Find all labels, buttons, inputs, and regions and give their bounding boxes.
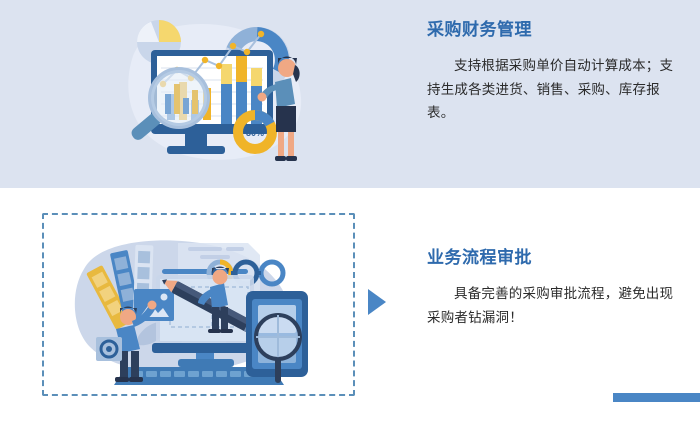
feature-title-approval-workflow: 业务流程审批 <box>427 248 677 268</box>
feature-text-bottom: 业务流程审批 具备完善的采购审批流程，避免出现采购者钻漏洞！ <box>427 248 677 329</box>
feature-body-procurement-finance: 支持根据采购单价自动计算成本；支持生成各类进货、销售、采购、库存报表。 <box>427 54 677 124</box>
feature-text-top: 采购财务管理 支持根据采购单价自动计算成本；支持生成各类进货、销售、采购、库存报… <box>427 20 677 124</box>
gear-icon-card <box>96 337 122 361</box>
design-workflow-illustration <box>60 225 345 385</box>
right-pointing-arrow <box>368 289 386 315</box>
feature-title-procurement-finance: 采购财务管理 <box>427 20 677 40</box>
feature-body-approval-workflow: 具备完善的采购审批流程，避免出现采购者钻漏洞！ <box>427 282 677 328</box>
slide-root: 30% 采购财务管理 支持根据采购单价自动计算成本；支持生成各类进货、销售、采购… <box>0 0 700 426</box>
donut-label: 30% <box>246 128 264 138</box>
data-analytics-illustration: 30% <box>115 8 315 173</box>
bottom-right-accent-bar <box>613 393 700 402</box>
